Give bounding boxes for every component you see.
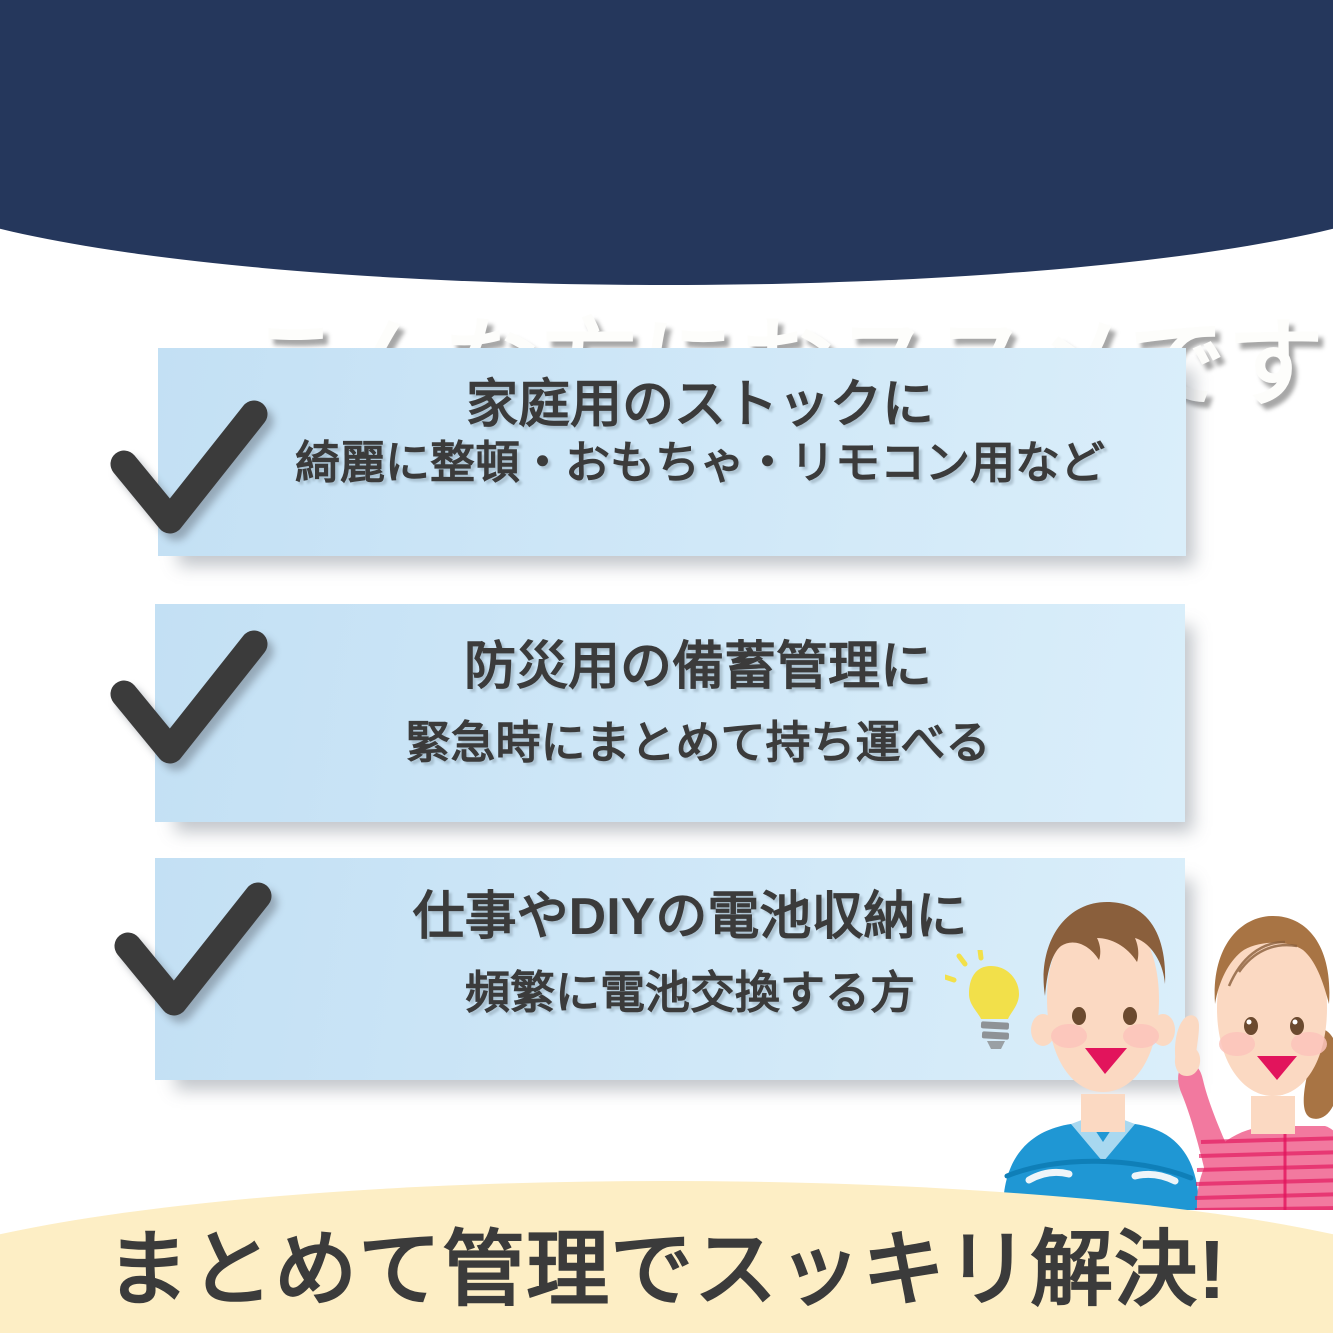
check-mark-icon [108, 880, 278, 1030]
benefit-card-3-subtitle: 頻繁に電池交換する方 [465, 968, 915, 1018]
benefit-card-2-subtitle: 緊急時にまとめて持ち運べる [405, 718, 990, 768]
check-mark-icon [104, 628, 274, 778]
benefit-card-2-title: 防災用の備蓄管理に [464, 638, 932, 696]
woman-pointing-up-illustration [1175, 916, 1333, 1210]
benefit-card-1-subtitle: 綺麗に整頓・おもちゃ・リモコン用など [295, 438, 1105, 488]
benefit-card-2[interactable]: 防災用の備蓄管理に 緊急時にまとめて持ち運べる [155, 604, 1185, 822]
benefit-card-1[interactable]: 家庭用のストックに 綺麗に整頓・おもちゃ・リモコン用など [158, 348, 1186, 556]
benefit-card-1-text: 家庭用のストックに 綺麗に整頓・おもちゃ・リモコン用など [158, 348, 1186, 556]
check-mark-icon [104, 398, 274, 548]
people-illustration [985, 880, 1333, 1210]
man-arms-crossed-illustration [1003, 902, 1199, 1210]
promo-banner-page: こんな方におススメです 家庭用のストックに 綺麗に整頓・おもちゃ・リモコン用など… [0, 0, 1333, 1333]
benefit-card-2-text: 防災用の備蓄管理に 緊急時にまとめて持ち運べる [155, 604, 1185, 822]
footer-title: まとめて管理でスッキリ解決! [0, 1228, 1333, 1311]
benefit-card-1-title: 家庭用のストックに [466, 376, 934, 434]
benefit-card-3-title: 仕事やDIYの電池収納に [413, 888, 968, 946]
